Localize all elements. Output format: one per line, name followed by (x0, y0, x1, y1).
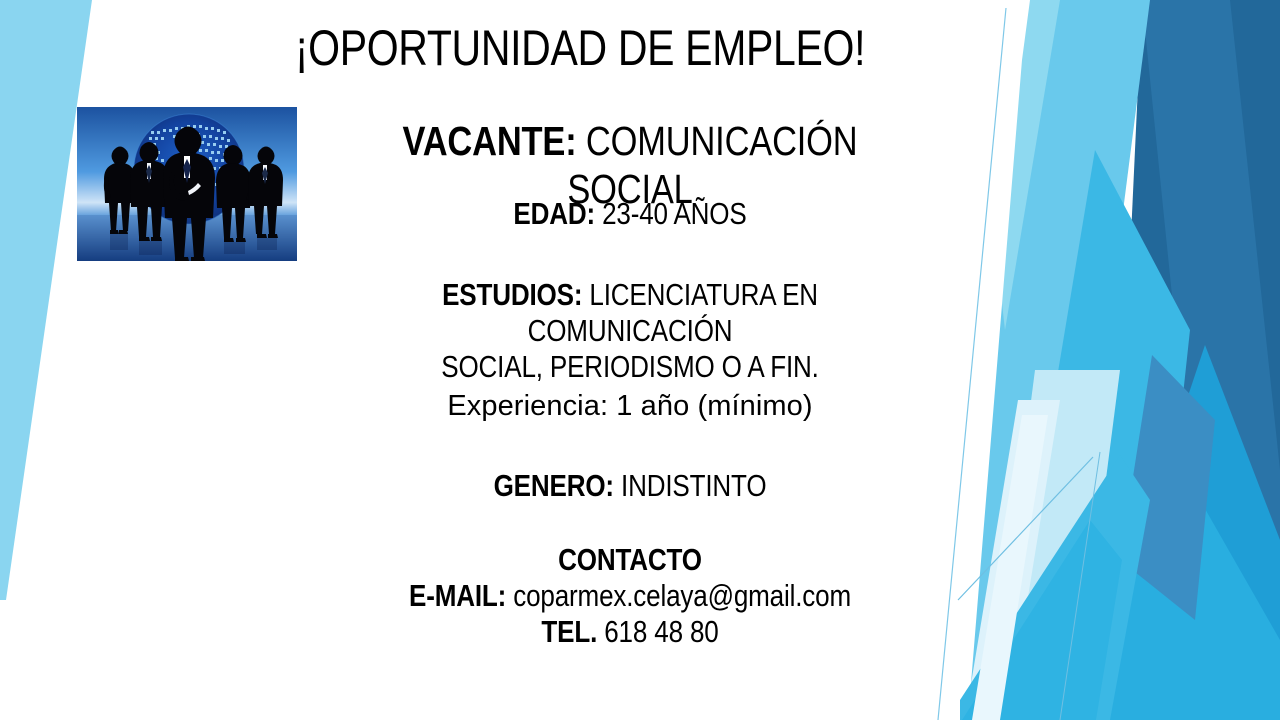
photo-artwork (77, 107, 297, 261)
genero-label: GENERO: (494, 468, 614, 503)
contact-tel-line: TEL. 618 48 80 (353, 614, 907, 650)
estudios-label: ESTUDIOS: (442, 277, 582, 312)
field-experiencia: Experiencia: 1 año (mínimo) (300, 389, 960, 424)
tel-value: 618 48 80 (597, 614, 718, 649)
contact-heading: CONTACTO (353, 542, 907, 578)
business-team-globe-photo (77, 107, 297, 261)
estudios-line-2: SOCIAL, PERIODISMO O A FIN. (353, 349, 907, 385)
vacante-label: VACANTE: (402, 118, 576, 164)
contact-email-line: E-MAIL: coparmex.celaya@gmail.com (353, 578, 907, 614)
presentation-slide: ¡OPORTUNIDAD DE EMPLEO! (0, 0, 1280, 720)
edad-value: 23-40 AÑOS (595, 196, 747, 231)
tel-label: TEL. (541, 614, 597, 649)
field-edad: EDAD: 23-40 AÑOS (353, 196, 907, 232)
field-estudios: ESTUDIOS: LICENCIATURA EN COMUNICACIÓN S… (353, 277, 907, 385)
contact-block: CONTACTO E-MAIL: coparmex.celaya@gmail.c… (353, 542, 907, 650)
genero-value: INDISTINTO (614, 468, 766, 503)
email-label: E-MAIL: (409, 578, 506, 613)
email-value: coparmex.celaya@gmail.com (506, 578, 851, 613)
edad-label: EDAD: (513, 196, 595, 231)
slide-title: ¡OPORTUNIDAD DE EMPLEO! (227, 22, 932, 74)
field-genero: GENERO: INDISTINTO (353, 468, 907, 504)
estudios-line-1: ESTUDIOS: LICENCIATURA EN COMUNICACIÓN (353, 277, 907, 349)
